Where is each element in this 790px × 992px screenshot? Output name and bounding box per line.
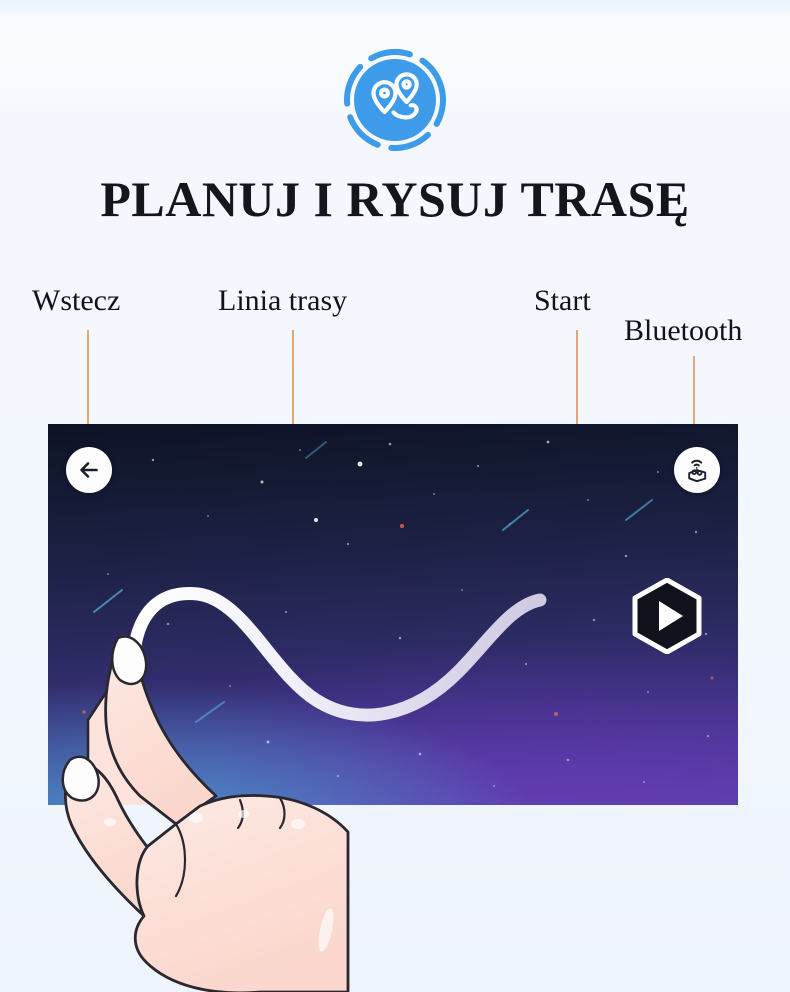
back-button[interactable] [66, 447, 112, 493]
callout-label-bluetooth: Bluetooth [624, 316, 742, 346]
page-title: PLANUJ I RYSUJ TRASĘ [0, 174, 790, 224]
device-screen [48, 424, 738, 805]
route-planner-logo [343, 48, 447, 152]
hand-highlight-2 [238, 810, 250, 818]
hand-highlight-1 [189, 813, 203, 823]
hand-palm [135, 795, 348, 992]
hand-highlight-3 [291, 819, 305, 829]
callout-label-back: Wstecz [32, 286, 120, 316]
bluetooth-robot-icon [682, 455, 712, 485]
hand-highlight-4 [104, 818, 116, 826]
callout-label-route: Linia trasy [218, 286, 347, 316]
arrow-left-icon [76, 457, 102, 483]
hand-highlight-5 [316, 907, 337, 953]
bluetooth-button[interactable] [674, 447, 720, 493]
start-button[interactable] [631, 578, 703, 654]
callout-label-start: Start [534, 286, 591, 316]
logo-container [0, 48, 790, 152]
hand-finger-fold [176, 824, 185, 896]
